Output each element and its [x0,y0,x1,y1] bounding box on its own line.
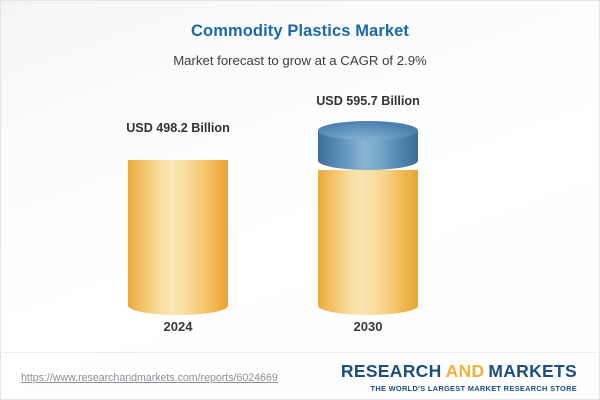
logo-word-markets: MARKETS [488,361,577,381]
bar-value-label-2030: USD 595.7 Billion [303,94,433,108]
bar-segment-growth-cap-2030 [318,121,418,140]
bar-cylinder-2024[interactable] [128,151,228,306]
bar-segment-base-2024 [128,151,228,306]
bar-segment-base-2030 [318,161,418,306]
logo-word-and: AND [446,361,485,381]
bar-cylinder-2030[interactable] [318,121,418,306]
bar-value-label-2024: USD 498.2 Billion [113,121,243,135]
research-and-markets-logo[interactable]: RESEARCHANDMARKETS THE WORLD'S LARGEST M… [341,363,577,392]
bar-segment-base-body-2030 [318,170,418,306]
page-title: Commodity Plastics Market [1,22,599,41]
logo-wordmark: RESEARCHANDMARKETS [341,363,577,381]
chart-subtitle: Market forecast to grow at a CAGR of 2.9… [1,53,599,68]
chart-plot-area: USD 498.2 Billion 2024 USD 595.7 Billion [1,81,600,346]
chart-card: Commodity Plastics Market Market forecas… [0,0,600,400]
bar-group-2024: USD 498.2 Billion 2024 [113,81,243,346]
x-axis-label-2024: 2024 [113,319,243,334]
logo-word-research: RESEARCH [341,361,442,381]
x-axis-label-2030: 2030 [303,319,433,334]
logo-tagline: THE WORLD'S LARGEST MARKET RESEARCH STOR… [341,385,577,392]
bar-segment-growth-2030 [318,121,418,161]
source-url-link[interactable]: https://www.researchandmarkets.com/repor… [21,372,278,384]
bar-segment-cap-2024 [128,151,228,170]
footer: https://www.researchandmarkets.com/repor… [1,353,599,400]
bar-segment-body-2024 [128,160,228,306]
bar-group-2030: USD 595.7 Billion 2030 [303,81,433,346]
